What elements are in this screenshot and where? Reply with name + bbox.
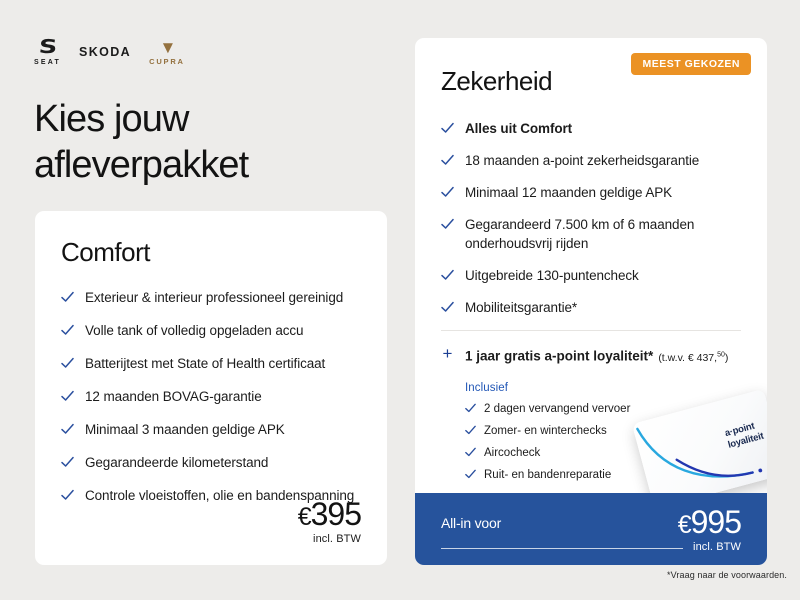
check-icon [61, 456, 74, 469]
list-item-label: Volle tank of volledig opgeladen accu [85, 321, 303, 340]
loyalty-offer-text: 1 jaar gratis a-point loyaliteit*(t.w.v.… [465, 345, 728, 368]
footer-rule [441, 548, 683, 549]
footnote: *Vraag naar de voorwaarden. [667, 570, 787, 580]
list-item: Alles uit Comfort [441, 119, 741, 138]
check-icon [61, 390, 74, 403]
comfort-price: €395 [298, 496, 361, 533]
list-item: Gegarandeerde kilometerstand [61, 453, 361, 472]
inclusief-title: Inclusief [465, 382, 741, 394]
list-item: Aircocheck [465, 445, 741, 461]
list-item-label: Uitgebreide 130-puntencheck [465, 266, 639, 285]
check-icon [465, 425, 476, 436]
list-item: Batterijtest met State of Health certifi… [61, 354, 361, 373]
check-icon [441, 301, 454, 314]
list-item-label: 12 maanden BOVAG-garantie [85, 387, 262, 406]
check-icon [61, 423, 74, 436]
list-item: Volle tank of volledig opgeladen accu [61, 321, 361, 340]
loyalty-offer-value: (t.w.v. € 437,50) [658, 352, 728, 364]
package-card-zekerheid[interactable]: MEEST GEKOZEN Zekerheid Alles uit Comfor… [415, 38, 767, 565]
list-item-label: Alles uit Comfort [465, 119, 572, 138]
list-item: 18 maanden a-point zekerheidsgarantie [441, 151, 741, 170]
zekerheid-price: €995 [678, 504, 741, 541]
allin-label: All-in voor [441, 515, 501, 531]
list-item: Exterieur & interieur professioneel gere… [61, 288, 361, 307]
list-item: 12 maanden BOVAG-garantie [61, 387, 361, 406]
check-icon [465, 447, 476, 458]
check-icon [441, 122, 454, 135]
currency-symbol: € [298, 503, 311, 531]
seat-logo-mark: S [38, 38, 57, 57]
currency-symbol: € [678, 511, 691, 539]
list-item-label: Zomer- en winterchecks [484, 423, 607, 439]
comfort-price-note: incl. BTW [298, 533, 361, 545]
skoda-logo-wordmark: SKODA [79, 45, 131, 59]
list-item: Minimaal 3 maanden geldige APK [61, 420, 361, 439]
offer-page: S SEAT SKODA ▼ CUPRA Kies jouw afleverpa… [0, 0, 800, 600]
list-item-label: Minimaal 3 maanden geldige APK [85, 420, 285, 439]
section-divider [441, 330, 741, 331]
list-item: Zomer- en winterchecks [465, 423, 741, 439]
inclusief-list: 2 dagen vervangend vervoer Zomer- en win… [465, 401, 741, 483]
check-icon [441, 186, 454, 199]
zekerheid-price-note: incl. BTW [678, 541, 741, 553]
check-icon [465, 469, 476, 480]
comfort-title: Comfort [61, 237, 361, 268]
inclusief-section: Inclusief 2 dagen vervangend vervoer Zom… [465, 382, 741, 483]
list-item-label: Gegarandeerd 7.500 km of 6 maanden onder… [465, 215, 741, 253]
zekerheid-feature-list: Alles uit Comfort 18 maanden a-point zek… [441, 119, 741, 317]
seat-logo: S SEAT [34, 38, 61, 66]
check-icon [441, 218, 454, 231]
price-amount: 395 [311, 496, 361, 532]
loyalty-value-suffix: ) [725, 352, 729, 364]
list-item-label: Gegarandeerde kilometerstand [85, 453, 268, 472]
zekerheid-price-block: €995 incl. BTW [678, 504, 741, 553]
list-item: Gegarandeerd 7.500 km of 6 maanden onder… [441, 215, 741, 253]
page-title: Kies jouw afleverpakket [34, 96, 374, 188]
loyalty-offer-row: + 1 jaar gratis a-point loyaliteit*(t.w.… [441, 345, 741, 368]
price-amount: 995 [691, 504, 741, 540]
plus-icon: + [441, 345, 454, 363]
cupra-logo-mark: ▼ [160, 39, 175, 56]
check-icon [441, 269, 454, 282]
check-icon [61, 291, 74, 304]
status-badge: MEEST GEKOZEN [631, 53, 751, 75]
check-icon [61, 324, 74, 337]
list-item-label: 2 dagen vervangend vervoer [484, 401, 630, 417]
check-icon [61, 489, 74, 502]
list-item-label: 18 maanden a-point zekerheidsgarantie [465, 151, 699, 170]
loyalty-value-cents: 50 [717, 351, 725, 358]
list-item-label: Batterijtest met State of Health certifi… [85, 354, 325, 373]
list-item: Mobiliteitsgarantie* [441, 298, 741, 317]
cupra-logo: ▼ CUPRA [149, 39, 185, 66]
loyalty-offer-label: 1 jaar gratis a-point loyaliteit* [465, 349, 653, 364]
comfort-price-block: €395 incl. BTW [298, 496, 361, 545]
list-item-label: Aircocheck [484, 445, 540, 461]
skoda-logo: SKODA [79, 45, 131, 59]
list-item: Ruit- en bandenreparatie [465, 467, 741, 483]
list-item-label: Mobiliteitsgarantie* [465, 298, 577, 317]
check-icon [465, 403, 476, 414]
list-item: 2 dagen vervangend vervoer [465, 401, 741, 417]
package-card-comfort[interactable]: Comfort Exterieur & interieur profession… [35, 211, 387, 565]
comfort-feature-list: Exterieur & interieur professioneel gere… [61, 288, 361, 505]
list-item: Uitgebreide 130-puntencheck [441, 266, 741, 285]
check-icon [61, 357, 74, 370]
check-icon [441, 154, 454, 167]
list-item-label: Minimaal 12 maanden geldige APK [465, 183, 672, 202]
seat-logo-wordmark: SEAT [34, 59, 61, 66]
list-item-label: Exterieur & interieur professioneel gere… [85, 288, 343, 307]
list-item-label: Ruit- en bandenreparatie [484, 467, 611, 483]
zekerheid-price-footer: All-in voor €995 incl. BTW [415, 493, 767, 565]
brand-logo-row: S SEAT SKODA ▼ CUPRA [34, 36, 185, 68]
list-item: Minimaal 12 maanden geldige APK [441, 183, 741, 202]
loyalty-value-prefix: (t.w.v. € 437, [658, 352, 717, 364]
cupra-logo-wordmark: CUPRA [149, 57, 185, 66]
